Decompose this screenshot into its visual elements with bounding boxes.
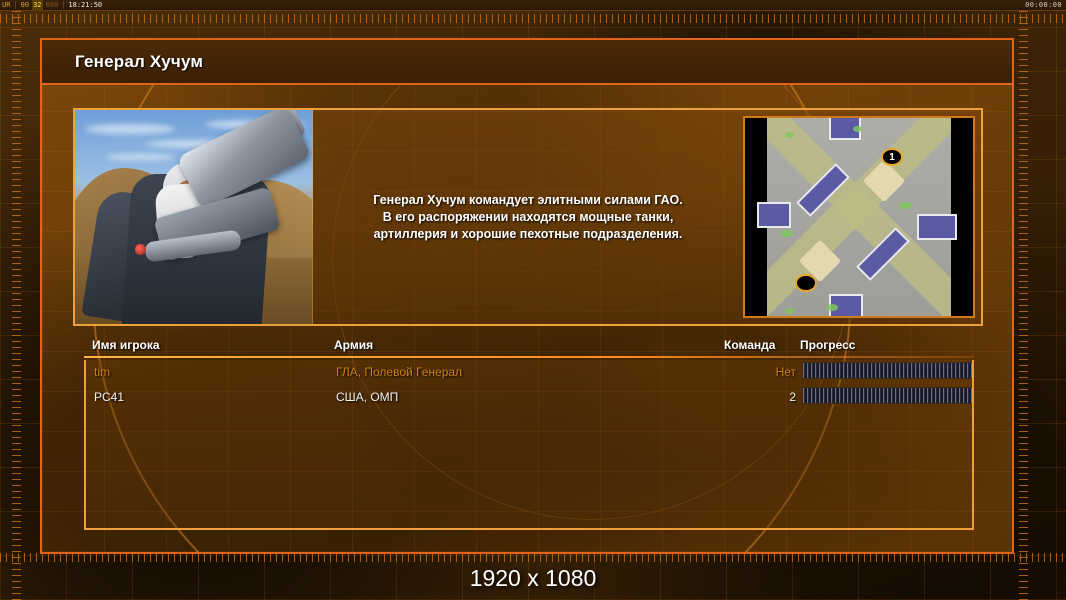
ruler-bottom-icon	[0, 553, 1066, 562]
start-position-2[interactable]	[795, 274, 817, 292]
status-segment-2: 32	[32, 0, 42, 11]
resolution-caption: 1920 x 1080	[0, 565, 1066, 592]
weapon-red-button-icon	[135, 244, 146, 255]
description-line-2: В его распоряжении находятся мощные танк…	[373, 209, 682, 226]
description-area: Генерал Хучум командует элитными силами …	[313, 110, 743, 324]
ruler-top-icon	[0, 14, 1066, 23]
status-divider: |	[13, 0, 17, 11]
description-line-1: Генерал Хучум командует элитными силами …	[373, 192, 682, 209]
general-portrait-image	[75, 110, 313, 324]
player-progress-bar	[802, 362, 974, 379]
header-underline	[84, 356, 974, 358]
player-team: 2	[726, 390, 796, 404]
player-team: Нет	[726, 365, 796, 379]
status-right-clock: 00:00:00	[1025, 0, 1066, 11]
player-army: США, ОМП	[336, 390, 398, 404]
status-bar: UR | 00 32 000 | 18:21:50 00:00:00	[0, 0, 1066, 11]
status-clock: 18:21:50	[68, 0, 102, 11]
table-row[interactable]: tim ГЛА, Полевой Генерал Нет	[86, 360, 972, 385]
status-segment-0: UR	[2, 0, 10, 11]
table-row[interactable]: PC41 США, ОМП 2	[86, 385, 972, 410]
player-list-headers: Имя игрока Армия Команда Прогресс	[84, 338, 974, 356]
window-title-bar: Генерал Хучум	[42, 40, 1012, 85]
game-lobby-window: Генерал Хучум	[40, 38, 1014, 554]
player-army: ГЛА, Полевой Генерал	[336, 365, 462, 379]
page-title: Генерал Хучум	[42, 52, 203, 72]
player-name: PC41	[94, 390, 124, 404]
status-segment-1: 00	[21, 0, 29, 11]
status-segment-3: 000	[46, 0, 59, 11]
start-position-1[interactable]: 1	[881, 148, 903, 166]
general-description: Генерал Хучум командует элитными силами …	[373, 192, 682, 243]
status-divider-2: |	[61, 0, 65, 11]
description-line-3: артиллерия и хорошие пехотные подразделе…	[373, 226, 682, 243]
header-army: Армия	[334, 338, 373, 352]
ruler-left-icon	[12, 0, 21, 600]
desktop-background: UR | 00 32 000 | 18:21:50 00:00:00 Генер…	[0, 0, 1066, 600]
header-team: Команда	[724, 338, 775, 352]
map-terrain: 1	[767, 118, 951, 316]
ruler-right-icon	[1019, 0, 1028, 600]
general-info-panel: Генерал Хучум командует элитными силами …	[73, 108, 983, 326]
header-progress: Прогресс	[800, 338, 855, 352]
header-player-name: Имя игрока	[92, 338, 160, 352]
player-name: tim	[94, 365, 110, 379]
player-progress-bar	[802, 387, 974, 404]
player-list: tim ГЛА, Полевой Генерал Нет PC41 США, О…	[84, 360, 974, 530]
map-preview[interactable]: 1	[743, 116, 975, 318]
